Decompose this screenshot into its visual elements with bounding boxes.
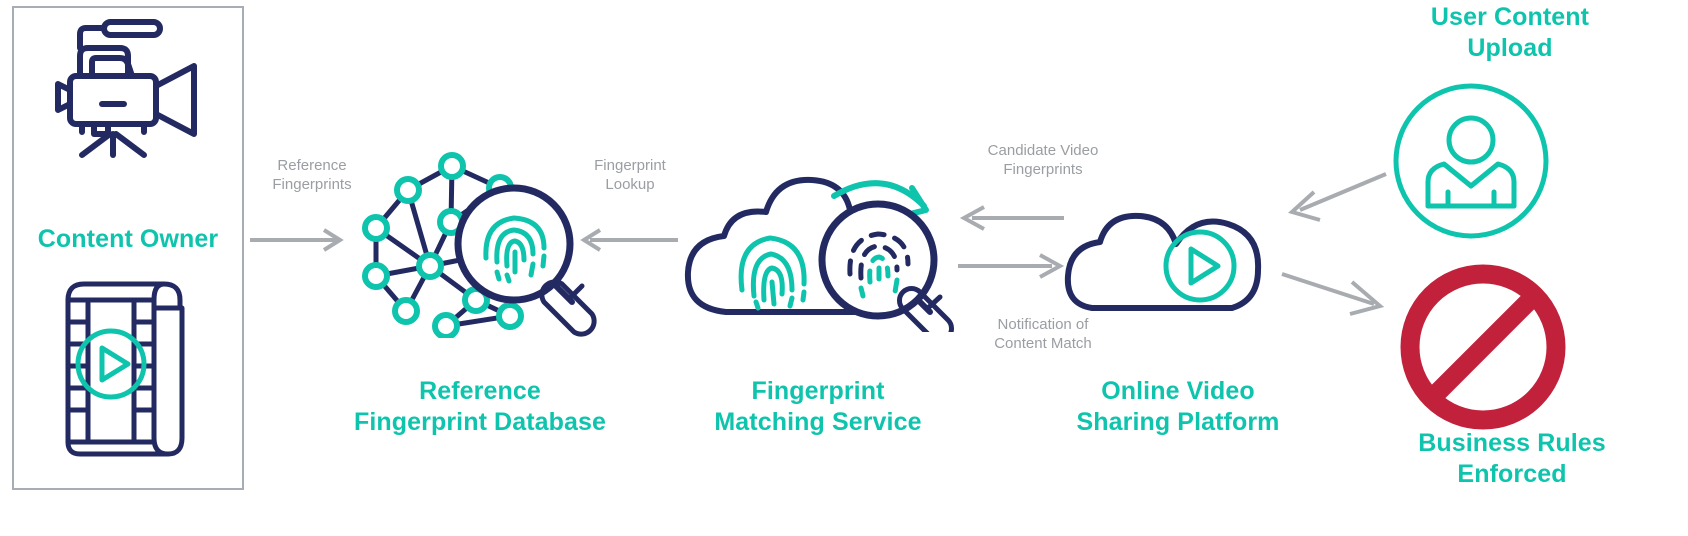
user-upload-label: User Content Upload <box>1360 2 1660 64</box>
business-rules-label: Business Rules Enforced <box>1356 428 1668 490</box>
cloud-fingerprint-magnifier-icon <box>674 172 964 332</box>
arrow-platform-to-business-rules <box>1282 270 1394 318</box>
edge-label-line2: Fingerprints <box>248 176 376 195</box>
arrow-upload-to-platform <box>1276 168 1388 216</box>
video-camera-icon <box>48 18 208 158</box>
business-rules-label-line2: Enforced <box>1356 459 1668 490</box>
cloud-play-icon <box>1062 188 1276 314</box>
sharing-platform-label-line2: Sharing Platform <box>1018 407 1338 438</box>
sharing-platform-label: Online Video Sharing Platform <box>1018 376 1338 438</box>
business-rules-label-line1: Business Rules <box>1356 428 1668 459</box>
edge-label-line2: Fingerprints <box>960 161 1126 180</box>
reference-database-label-line1: Reference <box>280 376 680 407</box>
film-reel-play-icon <box>42 278 192 460</box>
content-owner-label: Content Owner <box>14 224 242 255</box>
edge-label-line2: Content Match <box>960 335 1126 354</box>
edge-label-candidate-video-fingerprints: Candidate Video Fingerprints <box>960 142 1126 179</box>
matching-service-label: Fingerprint Matching Service <box>660 376 976 438</box>
matching-service-label-line2: Matching Service <box>660 407 976 438</box>
user-upload-label-line2: Upload <box>1360 33 1660 64</box>
prohibition-sign-icon <box>1400 264 1566 430</box>
user-circle-icon <box>1392 82 1550 240</box>
arrow-notification-of-content-match <box>956 254 1072 278</box>
edge-label-line1: Candidate Video <box>960 142 1126 161</box>
diagram-canvas: Content Owner Reference Fingerpr <box>0 0 1688 536</box>
user-upload-label-line1: User Content <box>1360 2 1660 33</box>
arrow-fingerprint-lookup <box>570 228 682 252</box>
arrow-reference-fingerprints <box>250 228 346 252</box>
edge-label-line1: Notification of <box>960 316 1126 335</box>
reference-database-label-line2: Fingerprint Database <box>280 407 680 438</box>
edge-label-notification-of-content-match: Notification of Content Match <box>960 316 1126 353</box>
matching-service-label-line1: Fingerprint <box>660 376 976 407</box>
edge-label-reference-fingerprints: Reference Fingerprints <box>248 157 376 194</box>
sharing-platform-label-line1: Online Video <box>1018 376 1338 407</box>
reference-database-label: Reference Fingerprint Database <box>280 376 680 438</box>
edge-label-line1: Reference <box>248 157 376 176</box>
arrow-candidate-video-fingerprints <box>952 206 1068 230</box>
